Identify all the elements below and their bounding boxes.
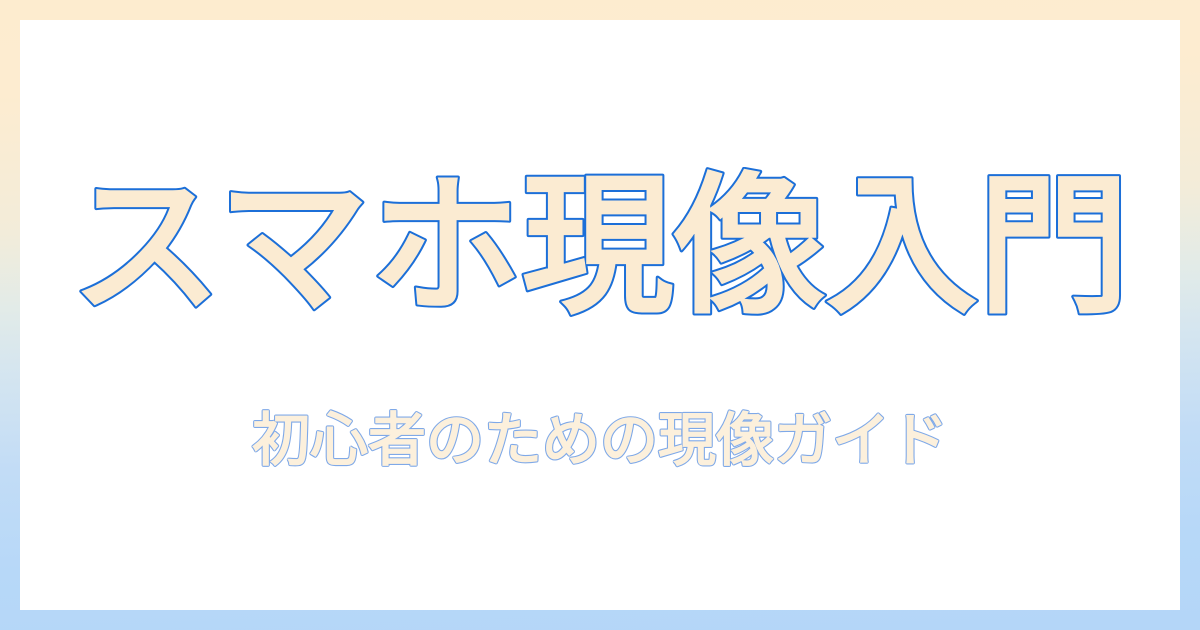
subtitle-outline-graphic: 初心者のための現像ガイド [20, 396, 1180, 482]
poster-title: スマホ現像入門 [20, 167, 1180, 342]
title-text: スマホ現像入門 [70, 167, 1129, 335]
subtitle-text: 初心者のための現像ガイド [252, 406, 948, 474]
poster-subtitle: 初心者のための現像ガイド [20, 396, 1180, 482]
poster-card: スマホ現像入門 初心者のための現像ガイド [20, 20, 1180, 610]
poster-frame: スマホ現像入門 初心者のための現像ガイド [0, 0, 1200, 630]
title-outline-graphic: スマホ現像入門 [20, 167, 1180, 342]
poster-content-stack: スマホ現像入門 初心者のための現像ガイド [20, 20, 1180, 610]
